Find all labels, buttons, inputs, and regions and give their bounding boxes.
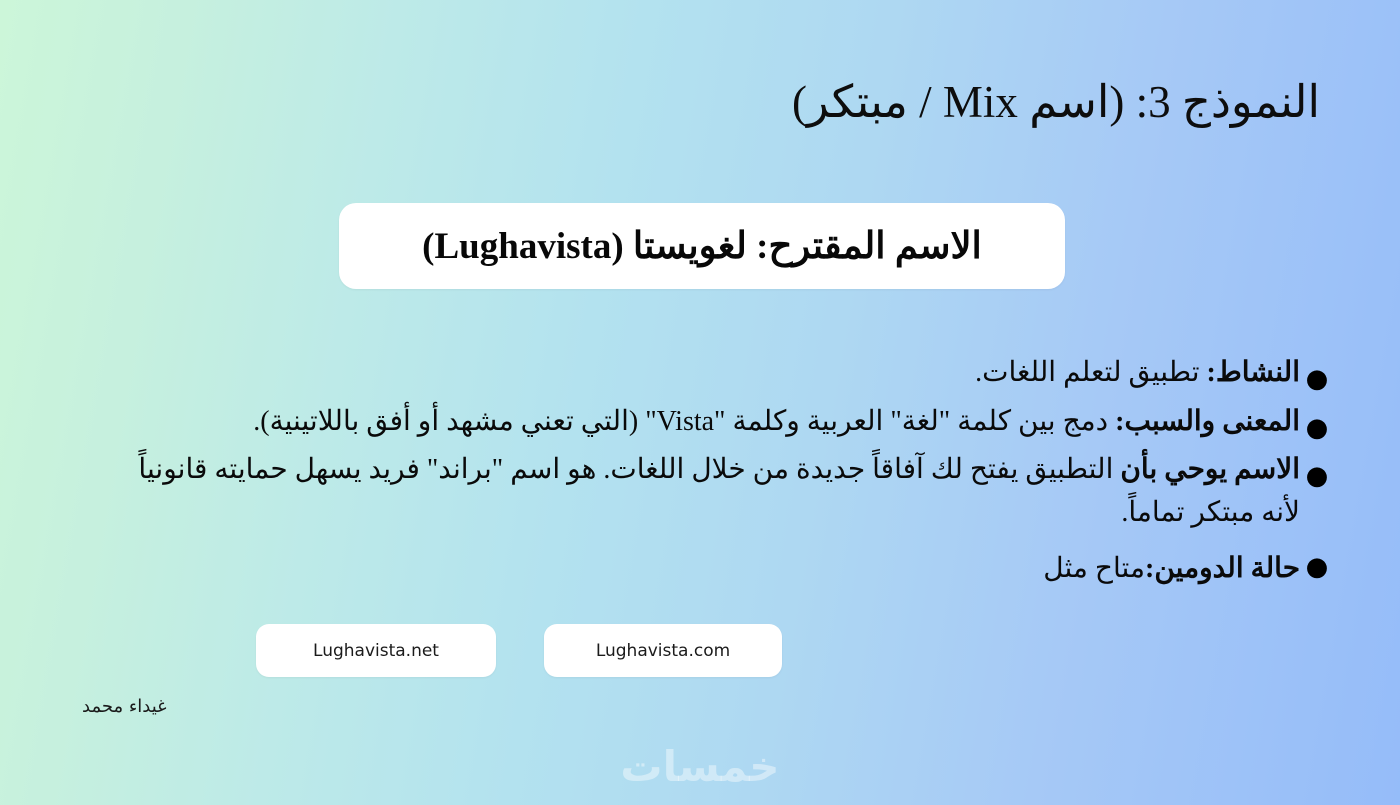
bullet-text: حالة الدومين: متاح مثل <box>120 540 1300 598</box>
bullet-lead: الاسم يوحي بأن <box>1120 454 1300 485</box>
bullet-lead: حالة الدومين: <box>1145 548 1300 591</box>
domain-pill-com[interactable]: Lughavista.com <box>544 624 782 677</box>
bullet-rest: دمج بين كلمة "لغة" العربية وكلمة "Vista"… <box>253 406 1115 437</box>
list-item: حالة الدومين: متاح مثل <box>120 540 1334 598</box>
watermark: خمسات <box>0 742 1400 791</box>
bullet-list: النشاط: تطبيق لتعلم اللغات. المعنى والسب… <box>120 352 1334 604</box>
bullet-dot-icon <box>1300 352 1334 392</box>
list-item: النشاط: تطبيق لتعلم اللغات. <box>120 352 1334 395</box>
suggested-name-card: الاسم المقترح: لغويستا (Lughavista) <box>339 203 1065 289</box>
bullet-rest: متاح مثل <box>1043 548 1145 591</box>
bullet-rest: تطبيق لتعلم اللغات. <box>975 357 1206 388</box>
bullet-text: النشاط: تطبيق لتعلم اللغات. <box>120 352 1300 395</box>
slide-canvas: النموذج 3: (اسم Mix / مبتكر) الاسم المقت… <box>0 0 1400 805</box>
bullet-dot-icon <box>1300 449 1334 489</box>
bullet-dot-icon <box>1300 540 1334 580</box>
bullet-lead: النشاط: <box>1207 357 1301 388</box>
bullet-text: الاسم يوحي بأن التطبيق يفتح لك آفاقاً جد… <box>120 449 1300 534</box>
author-signature: غيداء محمد <box>82 696 167 717</box>
bullet-lead: المعنى والسبب: <box>1115 406 1300 437</box>
list-item: الاسم يوحي بأن التطبيق يفتح لك آفاقاً جد… <box>120 449 1334 534</box>
bullet-text: المعنى والسبب: دمج بين كلمة "لغة" العربي… <box>120 401 1300 444</box>
bullet-dot-icon <box>1300 401 1334 441</box>
suggested-name-label: الاسم المقترح: لغويستا (Lughavista) <box>400 224 1004 268</box>
list-item: المعنى والسبب: دمج بين كلمة "لغة" العربي… <box>120 401 1334 444</box>
page-title: النموذج 3: (اسم Mix / مبتكر) <box>80 76 1320 129</box>
domain-pill-net[interactable]: Lughavista.net <box>256 624 496 677</box>
